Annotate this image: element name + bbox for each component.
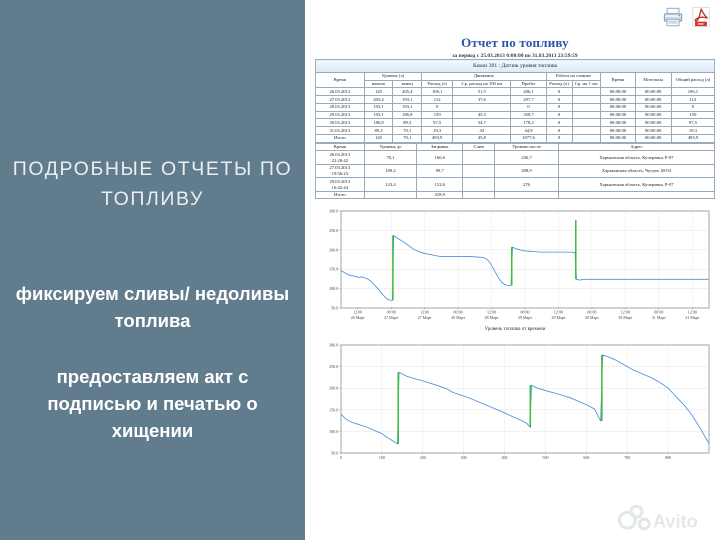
table-cell: 27.03.2013 bbox=[316, 96, 365, 104]
table-cell: 26.03.201322:20:42 bbox=[316, 151, 365, 164]
table-cell: 89,3 bbox=[364, 127, 393, 135]
svg-text:27 Март: 27 Март bbox=[418, 315, 432, 320]
svg-text:100: 100 bbox=[379, 456, 385, 461]
svg-text:300.0: 300.0 bbox=[329, 343, 338, 348]
printer-icon[interactable] bbox=[662, 6, 684, 28]
col-idle-time: Время bbox=[601, 72, 635, 87]
ev-col-refuel: Заправка bbox=[417, 143, 463, 151]
svg-text:00:00: 00:00 bbox=[654, 310, 663, 315]
table-cell: 97,5 bbox=[671, 119, 714, 127]
table-cell: 70,1 bbox=[364, 151, 417, 164]
svg-text:Avito: Avito bbox=[653, 512, 698, 532]
table-cell: 206,1 bbox=[511, 88, 546, 96]
svg-text:800: 800 bbox=[665, 456, 671, 461]
ev-col-level-before: Уровень до bbox=[364, 143, 417, 151]
table-cell: 178,2 bbox=[511, 119, 546, 127]
chart-fuel-by-index: 010020030040050060070080050.0100.0150.02… bbox=[315, 339, 715, 467]
table-cell bbox=[572, 103, 601, 111]
table-cell: 1077,6 bbox=[511, 134, 546, 142]
svg-text:00:00: 00:00 bbox=[520, 310, 529, 315]
report-panel: PDF Отчет по топливу за период с 25.03.2… bbox=[310, 0, 720, 540]
group-idle: Работа на стоянке bbox=[546, 72, 601, 80]
table-cell: 70,1 bbox=[393, 127, 422, 135]
table-cell bbox=[495, 191, 559, 199]
table-cell: 54,7 bbox=[453, 119, 511, 127]
table-cell: 31.03.2013 bbox=[316, 127, 365, 135]
ev-col-drain: Слив bbox=[463, 143, 495, 151]
svg-text:28 Март: 28 Март bbox=[451, 315, 465, 320]
table-cell: 166,6 bbox=[417, 151, 463, 164]
table-cell: 28.03.2013 bbox=[316, 103, 365, 111]
table-cell: 51,5 bbox=[453, 88, 511, 96]
table-cell: 493,9 bbox=[422, 134, 453, 142]
table-cell: 350,7 bbox=[511, 111, 546, 119]
table-row: 27.03.201319:56:23109,299,7208,9Харьковс… bbox=[316, 164, 715, 177]
promo-heading: ПОДРОБНЫЕ ОТЧЕТЫ ПО ТОПЛИВУ bbox=[0, 154, 305, 214]
col-avg-per-hour: Ср. на 1 час bbox=[572, 80, 601, 88]
table-cell: 00:00:00 bbox=[635, 127, 671, 135]
promo-bullet-1: фиксируем сливы/ недоливы топлива bbox=[0, 280, 305, 334]
pdf-icon[interactable]: PDF bbox=[690, 6, 712, 28]
events-header-row: Время Уровень до Заправка Слив Уровень п… bbox=[316, 143, 715, 151]
table-cell: 97,5 bbox=[422, 119, 453, 127]
svg-text:30 Март: 30 Март bbox=[618, 315, 632, 320]
chart-1-xlabel: Уровень топлива от времени bbox=[315, 327, 715, 332]
ev-col-level-after: Уровень после bbox=[495, 143, 559, 151]
table-row: 29.03.201316:42:44123,4152,6276Харьковск… bbox=[316, 178, 715, 191]
table-cell: 123,4 bbox=[364, 178, 417, 191]
group-header-row: Время Уровень (л) Движение Работа на сто… bbox=[316, 72, 715, 80]
table-cell: 145 bbox=[364, 134, 393, 142]
svg-text:12:00: 12:00 bbox=[420, 310, 429, 315]
table-cell: 19,3 bbox=[422, 127, 453, 135]
table-cell: 19,3 bbox=[671, 127, 714, 135]
table-cell: 193,1 bbox=[393, 96, 422, 104]
report-title: Отчет по топливу bbox=[315, 35, 715, 51]
table-cell: 236,7 bbox=[495, 151, 559, 164]
table-cell: 106,1 bbox=[422, 88, 453, 96]
table-total-row: Итого14570,1493,945,81077,6000:00:0000:0… bbox=[316, 134, 715, 142]
table-cell: 45,8 bbox=[453, 134, 511, 142]
table-cell: 26.03.2013 bbox=[316, 88, 365, 96]
table-cell: 208,9 bbox=[495, 164, 559, 177]
table-cell: 0 bbox=[546, 119, 572, 127]
table-cell bbox=[463, 151, 495, 164]
table-cell bbox=[572, 127, 601, 135]
chart-fuel-vs-time-canvas: 12:0026 Март00:0027 Март12:0027 Март00:0… bbox=[315, 206, 715, 326]
svg-text:200.0: 200.0 bbox=[329, 386, 338, 391]
svg-text:12:00: 12:00 bbox=[353, 310, 362, 315]
fuel-summary-table: Камаз 391 : Датчик уровня топлива Время … bbox=[315, 59, 715, 143]
table-cell: 112 bbox=[671, 96, 714, 104]
table-cell: 193,1 bbox=[364, 111, 393, 119]
svg-text:31 Март: 31 Март bbox=[685, 315, 699, 320]
promo-panel: ПОДРОБНЫЕ ОТЧЕТЫ ПО ТОПЛИВУ фиксируем сл… bbox=[0, 0, 305, 540]
svg-text:12:00: 12:00 bbox=[487, 310, 496, 315]
col-avg-per-100km: Ср. расход на 100 км bbox=[453, 80, 511, 88]
table-cell: 0 bbox=[546, 103, 572, 111]
svg-text:28 Март: 28 Март bbox=[485, 315, 499, 320]
address-cell: Харьковская область, Чугуев, М-03 bbox=[558, 164, 714, 177]
table-cell: 89,3 bbox=[393, 119, 422, 127]
table-cell bbox=[463, 191, 495, 199]
group-level: Уровень (л) bbox=[364, 72, 421, 80]
table-cell: 00:00:00 bbox=[635, 111, 671, 119]
table-cell: 159 bbox=[671, 111, 714, 119]
table-cell: 45,3 bbox=[453, 111, 511, 119]
table-cell: 418,9 bbox=[417, 191, 463, 199]
table-row: 26.03.201322:20:4270,1166,6236,7Харьковс… bbox=[316, 151, 715, 164]
table-cell: 70,1 bbox=[393, 134, 422, 142]
table-cell: 29.03.2013 bbox=[316, 111, 365, 119]
table-cell: 44,9 bbox=[511, 127, 546, 135]
svg-text:12:00: 12:00 bbox=[621, 310, 630, 315]
svg-text:00:00: 00:00 bbox=[387, 310, 396, 315]
table-cell: 159 bbox=[422, 111, 453, 119]
table-cell: 30.03.2013 bbox=[316, 119, 365, 127]
fuel-events-table: Время Уровень до Заправка Слив Уровень п… bbox=[315, 143, 715, 200]
table-cell: 00:00:00 bbox=[601, 88, 635, 96]
svg-text:50.0: 50.0 bbox=[331, 306, 338, 311]
svg-text:400: 400 bbox=[502, 456, 508, 461]
col-time: Время bbox=[316, 72, 365, 87]
svg-text:250.0: 250.0 bbox=[329, 228, 338, 233]
table-cell: 0 bbox=[546, 96, 572, 104]
col-total-consumption: Общий расход (л) bbox=[671, 72, 714, 87]
svg-text:150.0: 150.0 bbox=[329, 408, 338, 413]
svg-text:200: 200 bbox=[420, 456, 426, 461]
svg-text:26 Март: 26 Март bbox=[351, 315, 365, 320]
table-cell: 00:00:00 bbox=[601, 127, 635, 135]
table-cell: 0 bbox=[422, 103, 453, 111]
svg-text:31 Март: 31 Март bbox=[652, 315, 666, 320]
table-cell: 99,7 bbox=[417, 164, 463, 177]
device-title: Камаз 391 : Датчик уровня топлива bbox=[316, 60, 715, 73]
table-cell: Итого bbox=[316, 134, 365, 142]
svg-text:30 Март: 30 Март bbox=[585, 315, 599, 320]
chart-fuel-vs-time: 12:0026 Март00:0027 Март12:0027 Март00:0… bbox=[315, 206, 715, 332]
table-cell: 0 bbox=[671, 103, 714, 111]
table-cell: 00:00:00 bbox=[601, 103, 635, 111]
svg-text:100.0: 100.0 bbox=[329, 287, 338, 292]
table-cell: 0 bbox=[546, 88, 572, 96]
address-cell: Харьковская область, Кучеровка, Р-07 bbox=[558, 151, 714, 164]
table-cell: 106,1 bbox=[671, 88, 714, 96]
table-row: 31.03.201389,370,119,34344,9000:00:0000:… bbox=[316, 127, 715, 135]
table-cell: 297,7 bbox=[511, 96, 546, 104]
table-row: 29.03.2013193,1186,815945,3350,7000:00:0… bbox=[316, 111, 715, 119]
svg-text:250.0: 250.0 bbox=[329, 365, 338, 370]
promo-bullet-2: предоставляем акт с подписью и печатью о… bbox=[0, 363, 305, 444]
table-cell: 112 bbox=[422, 96, 453, 104]
table-cell bbox=[572, 111, 601, 119]
fuel-events-body: 26.03.201322:20:4270,1166,6236,7Харьковс… bbox=[316, 151, 715, 199]
table-row: 26.03.2013145205,4106,151,5206,1000:00:0… bbox=[316, 88, 715, 96]
table-cell: 0 bbox=[511, 103, 546, 111]
col-level-end: конец bbox=[393, 80, 422, 88]
svg-text:29 Март: 29 Март bbox=[518, 315, 532, 320]
col-engine-hours: Моточасы bbox=[635, 72, 671, 87]
slide-root: ПОДРОБНЫЕ ОТЧЕТЫ ПО ТОПЛИВУ фиксируем сл… bbox=[0, 0, 720, 540]
table-cell: 152,6 bbox=[417, 178, 463, 191]
table-total-row: Итого418,9 bbox=[316, 191, 715, 199]
table-cell bbox=[572, 134, 601, 142]
col-level-start: начало bbox=[364, 80, 393, 88]
fuel-summary-body: 26.03.2013145205,4106,151,5206,1000:00:0… bbox=[316, 88, 715, 142]
table-cell: 43 bbox=[453, 127, 511, 135]
table-cell bbox=[453, 103, 511, 111]
address-cell: Харьковская область, Кучеровка, Р-07 bbox=[558, 178, 714, 191]
table-cell: 00:00:00 bbox=[601, 119, 635, 127]
svg-text:12:00: 12:00 bbox=[554, 310, 563, 315]
table-cell bbox=[463, 178, 495, 191]
device-title-row: Камаз 391 : Датчик уровня топлива bbox=[316, 60, 715, 73]
svg-text:12:00: 12:00 bbox=[688, 310, 697, 315]
svg-text:500: 500 bbox=[542, 456, 548, 461]
report-toolbar: PDF bbox=[662, 6, 712, 28]
table-cell bbox=[558, 191, 714, 199]
svg-text:PDF: PDF bbox=[698, 22, 704, 26]
svg-text:50.0: 50.0 bbox=[331, 451, 338, 456]
table-cell: 145 bbox=[364, 88, 393, 96]
col-idle-consumption: Расход (л) bbox=[546, 80, 572, 88]
chart-fuel-by-index-canvas: 010020030040050060070080050.0100.0150.02… bbox=[315, 339, 715, 467]
table-cell: 27.03.201319:56:23 bbox=[316, 164, 365, 177]
table-row: 27.03.2013205,4193,111237,6297,7000:00:0… bbox=[316, 96, 715, 104]
svg-text:600: 600 bbox=[583, 456, 589, 461]
svg-text:200.0: 200.0 bbox=[329, 248, 338, 253]
table-cell: 0 bbox=[546, 134, 572, 142]
table-row: 28.03.2013193,1193,100000:00:0000:00:000 bbox=[316, 103, 715, 111]
table-cell: 00:00:00 bbox=[635, 88, 671, 96]
table-cell: 37,6 bbox=[453, 96, 511, 104]
table-cell: 193,1 bbox=[393, 103, 422, 111]
svg-text:27 Март: 27 Март bbox=[384, 315, 398, 320]
svg-text:29 Март: 29 Март bbox=[551, 315, 565, 320]
svg-text:300.0: 300.0 bbox=[329, 209, 338, 214]
ev-col-address: Адрес bbox=[558, 143, 714, 151]
col-move-consumption: Расход (л) bbox=[422, 80, 453, 88]
table-cell bbox=[572, 88, 601, 96]
table-cell: 00:00:00 bbox=[601, 134, 635, 142]
table-cell: 205,4 bbox=[364, 96, 393, 104]
table-cell bbox=[364, 191, 417, 199]
table-cell: 186,8 bbox=[364, 119, 393, 127]
table-cell: 186,8 bbox=[393, 111, 422, 119]
avito-watermark: Avito bbox=[616, 502, 714, 536]
svg-text:700: 700 bbox=[624, 456, 630, 461]
svg-text:00:00: 00:00 bbox=[454, 310, 463, 315]
table-cell: 00:00:00 bbox=[635, 119, 671, 127]
table-cell: 00:00:00 bbox=[635, 96, 671, 104]
table-cell: Итого bbox=[316, 191, 365, 199]
table-row: 30.03.2013186,889,397,554,7178,2000:00:0… bbox=[316, 119, 715, 127]
table-cell: 0 bbox=[546, 127, 572, 135]
table-cell bbox=[572, 119, 601, 127]
table-cell: 00:00:00 bbox=[601, 111, 635, 119]
group-movement: Движение bbox=[422, 72, 546, 80]
table-cell bbox=[463, 164, 495, 177]
svg-text:300: 300 bbox=[461, 456, 467, 461]
svg-text:150.0: 150.0 bbox=[329, 267, 338, 272]
table-cell: 276 bbox=[495, 178, 559, 191]
svg-text:00:00: 00:00 bbox=[587, 310, 596, 315]
col-mileage: Пробег bbox=[511, 80, 546, 88]
table-cell: 29.03.201316:42:44 bbox=[316, 178, 365, 191]
table-cell: 0 bbox=[546, 111, 572, 119]
table-cell bbox=[572, 96, 601, 104]
table-cell: 00:00:00 bbox=[601, 96, 635, 104]
table-cell: 493,9 bbox=[671, 134, 714, 142]
table-cell: 205,4 bbox=[393, 88, 422, 96]
table-cell: 193,1 bbox=[364, 103, 393, 111]
fuel-events-head: Время Уровень до Заправка Слив Уровень п… bbox=[316, 143, 715, 151]
svg-text:100.0: 100.0 bbox=[329, 429, 338, 434]
table-cell: 00:00:00 bbox=[635, 103, 671, 111]
table-cell: 00:00:00 bbox=[635, 134, 671, 142]
svg-text:0: 0 bbox=[340, 456, 342, 461]
ev-col-time: Время bbox=[316, 143, 365, 151]
table-cell: 109,2 bbox=[364, 164, 417, 177]
